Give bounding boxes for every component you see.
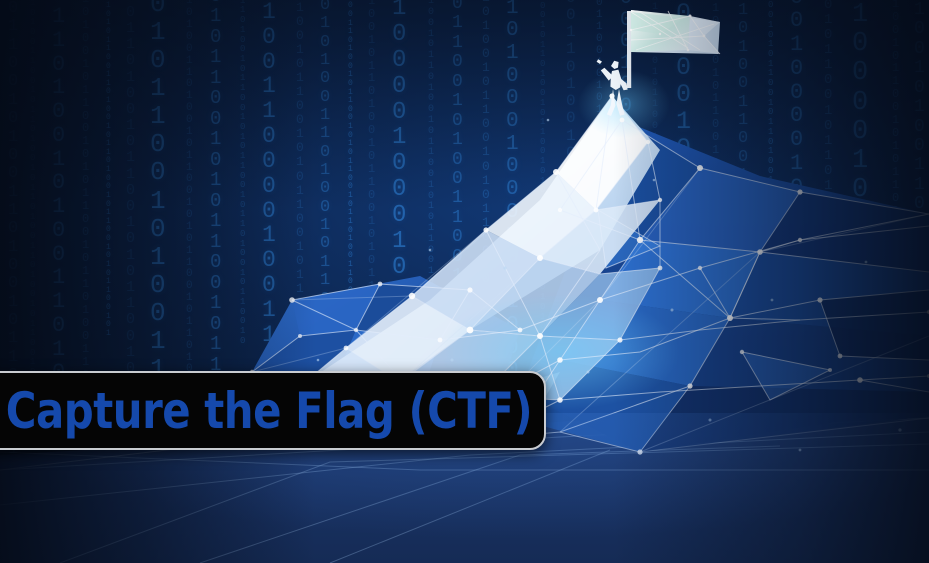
ctf-tutorial-graphic: 0 1 1 0 0 1 0 1 0 0 1 1 0 1 0 0 1 0 1 1 … xyxy=(0,0,929,563)
title-banner-text: Capture the Flag (CTF) Tutorial xyxy=(0,386,546,436)
title-blue-part: Capture the Flag (CTF) xyxy=(6,382,532,440)
title-white-part: Tutorial xyxy=(532,382,546,440)
edge-vignette xyxy=(0,0,929,563)
title-banner: Capture the Flag (CTF) Tutorial xyxy=(0,371,546,450)
